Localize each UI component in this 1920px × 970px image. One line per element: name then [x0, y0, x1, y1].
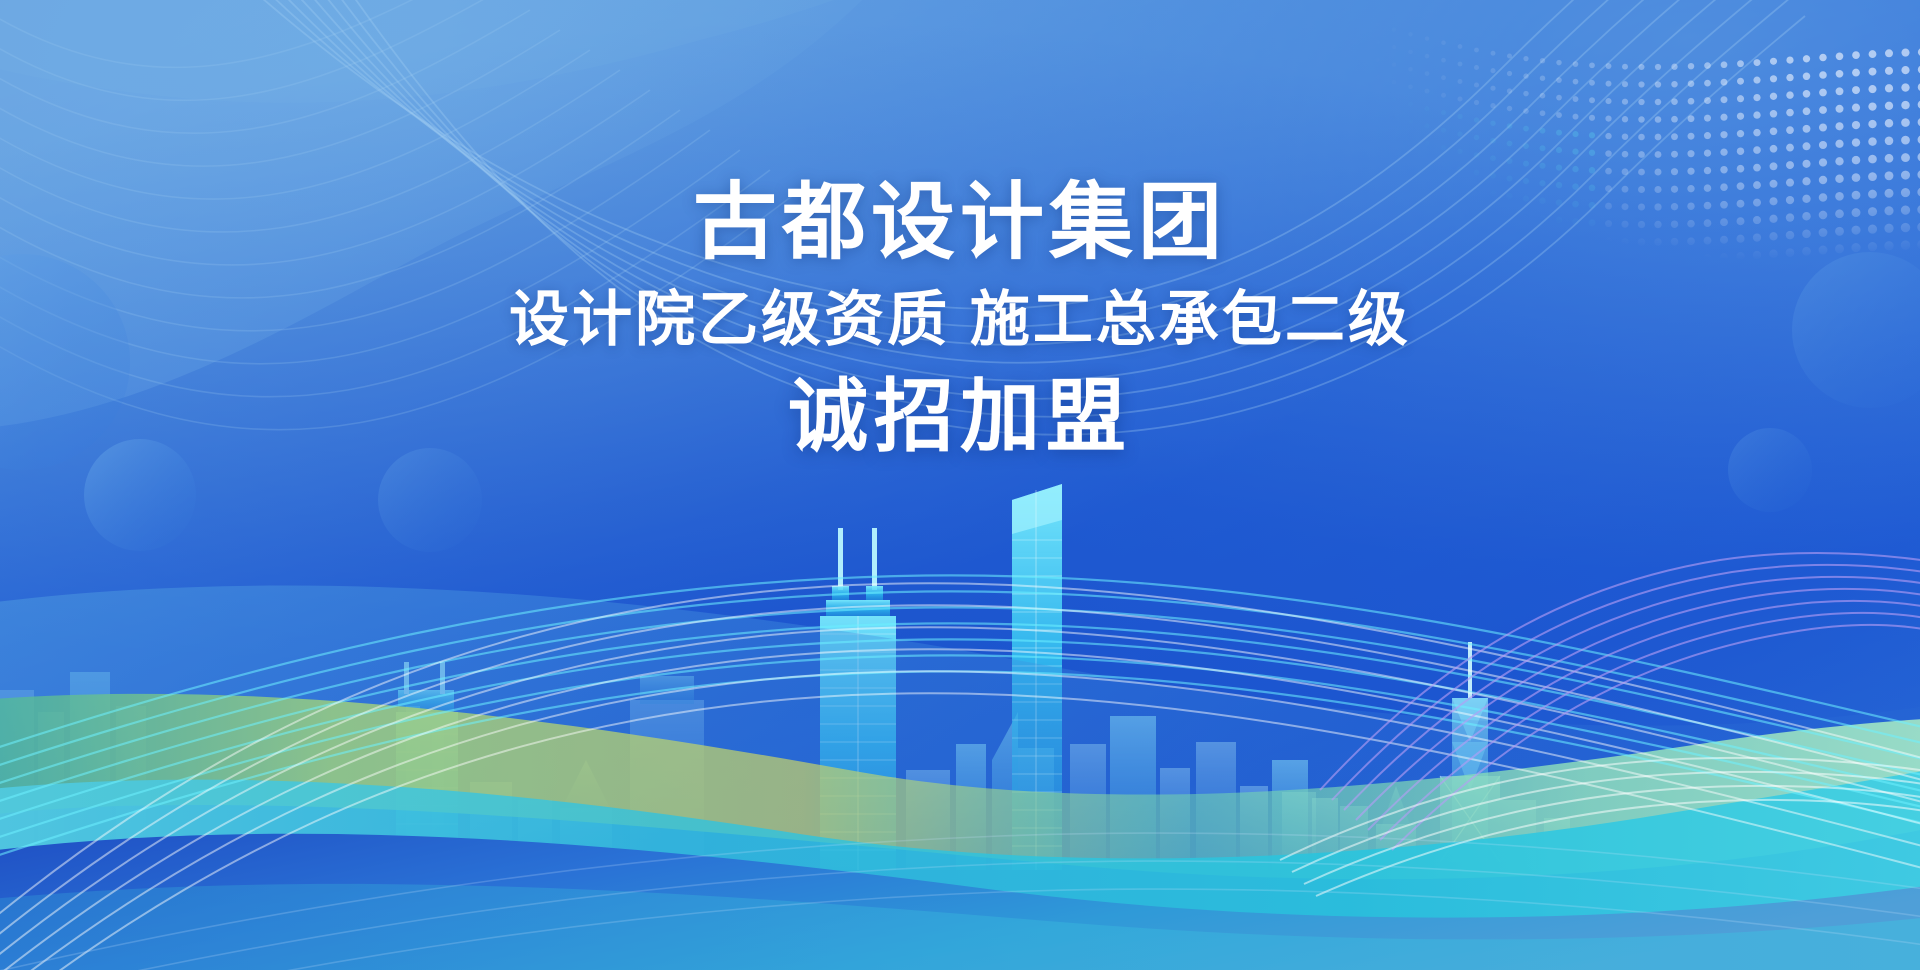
layered-ribbon-waves	[0, 0, 1920, 970]
promo-banner: 古都设计集团 设计院乙级资质 施工总承包二级 诚招加盟	[0, 0, 1920, 970]
